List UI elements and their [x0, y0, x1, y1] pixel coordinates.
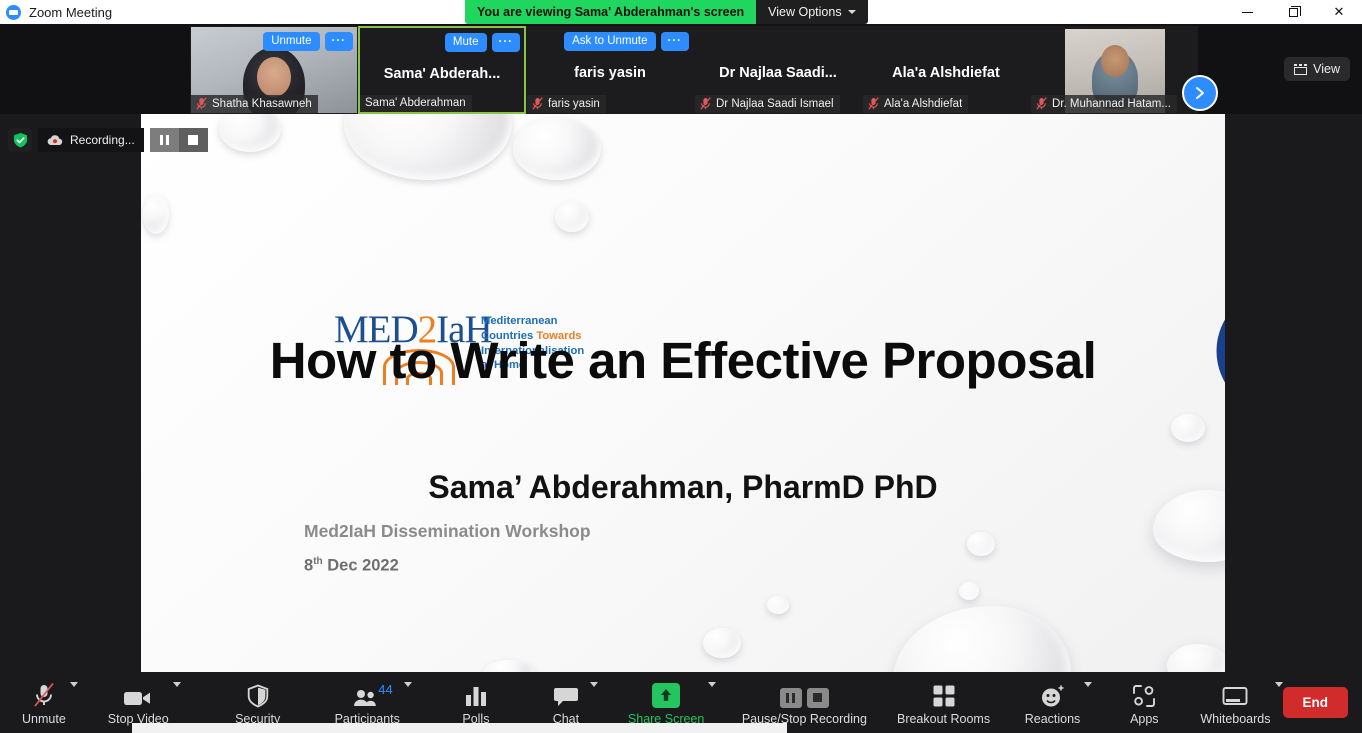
minimize-icon — [1242, 12, 1253, 13]
microphone-muted-icon — [532, 97, 543, 110]
participant-thumbnail-active[interactable]: Mute ··· Sama' Abderah... Sama' Abderahm… — [358, 26, 526, 114]
pause-stop-icon — [780, 680, 829, 708]
ask-to-unmute-button[interactable]: Ask to Unmute — [564, 32, 655, 51]
breakout-rooms-button[interactable]: Breakout Rooms — [896, 672, 990, 733]
recording-indicator-bar: Recording... — [8, 128, 208, 152]
cloud-record-icon — [47, 134, 63, 146]
apps-bracket-icon — [1132, 680, 1156, 708]
thumbnail-controls: Mute ··· — [445, 33, 520, 52]
participant-thumbnail[interactable]: Ask to Unmute ··· faris yasin faris yasi… — [526, 26, 694, 114]
microphone-muted-icon — [700, 97, 711, 110]
shared-screen-area[interactable]: MED2IaH Mediterranean Countries Towards … — [141, 114, 1225, 673]
water-drop-decoration — [1167, 644, 1225, 673]
view-options-label: View Options — [768, 5, 841, 19]
participant-display-name: Dr Najlaa Saadi... — [695, 65, 861, 81]
shield-icon — [247, 680, 269, 708]
toolbar-label: Reactions — [1025, 712, 1081, 726]
meeting-info-shield-button[interactable] — [8, 128, 32, 152]
recording-label: Recording... — [70, 133, 135, 147]
left-letterbox — [0, 114, 141, 673]
participant-display-name: Sama' Abderah... — [360, 66, 524, 82]
slide-author: Sama’ Abderahman, PharmD PhD — [141, 469, 1225, 506]
thumbnail-more-button[interactable]: ··· — [661, 32, 690, 51]
toolbar-label: Apps — [1130, 712, 1159, 726]
thumbnail-more-button[interactable]: ··· — [492, 33, 521, 52]
bubble-decoration — [143, 194, 169, 234]
stop-recording-button[interactable] — [179, 128, 208, 152]
video-options-caret-icon[interactable] — [173, 682, 181, 687]
recording-controls — [150, 128, 208, 152]
thumbnail-footer: Dr Najlaa Saadi Ismael — [695, 95, 840, 113]
bar-chart-icon — [464, 680, 488, 708]
slide-date-ordinal: th — [313, 556, 322, 567]
bubble-decoration — [1171, 414, 1205, 442]
grid-squares-icon — [932, 680, 956, 708]
thumbnail-more-button[interactable]: ··· — [325, 32, 354, 51]
participant-name: Ala'a Alshdiefat — [884, 98, 962, 110]
participant-filmstrip: Unmute ··· Shatha Khasawneh Mute ··· Sam… — [0, 24, 1362, 114]
whiteboards-button[interactable]: Whiteboards — [1196, 672, 1274, 733]
toolbar-label: Whiteboards — [1200, 712, 1270, 726]
thumbnail-list: Unmute ··· Shatha Khasawneh Mute ··· Sam… — [190, 26, 1198, 114]
stop-icon[interactable] — [807, 688, 829, 708]
thumbnail-footer: faris yasin — [527, 95, 606, 113]
mute-participant-button[interactable]: Mute — [445, 33, 487, 52]
chevron-right-icon — [1194, 86, 1206, 100]
participant-display-name: faris yasin — [527, 65, 693, 81]
slide-subtitle: Med2IaH Dissemination Workshop — [304, 521, 591, 542]
background-window-strip — [132, 723, 787, 733]
thumbnail-footer: Ala'a Alshdiefat — [863, 95, 968, 113]
maximize-button[interactable] — [1270, 0, 1316, 24]
view-button-label: View — [1313, 62, 1340, 76]
thumbnail-footer: Sama' Abderahman — [360, 95, 472, 112]
participant-thumbnail[interactable]: Unmute ··· Shatha Khasawneh — [190, 26, 358, 114]
tagline-line-1: Mediterranean — [481, 314, 606, 329]
grid-view-icon — [1294, 64, 1307, 75]
participant-display-name: Ala'a Alshdiefat — [863, 65, 1029, 81]
participant-name: faris yasin — [548, 98, 600, 110]
apps-button[interactable]: Apps — [1120, 672, 1168, 733]
participants-count-badge: 44 — [378, 682, 392, 697]
pause-icon — [160, 135, 169, 145]
share-green-square — [652, 683, 680, 708]
chat-options-caret-icon[interactable] — [590, 682, 598, 687]
microphone-muted-icon — [196, 97, 207, 110]
bubble-decoration — [219, 114, 281, 152]
participant-name: Dr Najlaa Saadi Ismael — [716, 98, 834, 110]
close-icon: ✕ — [1334, 4, 1345, 20]
chevron-down-icon — [848, 10, 856, 14]
green-shield-icon — [13, 132, 28, 148]
zoom-logo-icon — [6, 5, 21, 20]
view-layout-button[interactable]: View — [1284, 57, 1350, 81]
whiteboards-options-caret-icon[interactable] — [1275, 682, 1283, 687]
bubble-decoration — [555, 202, 589, 232]
bubble-decoration — [967, 532, 995, 556]
end-meeting-button[interactable]: End — [1283, 687, 1349, 718]
microphone-muted-icon — [868, 97, 879, 110]
reactions-options-caret-icon[interactable] — [1084, 682, 1092, 687]
participant-thumbnail[interactable]: Dr Najlaa Saadi... Dr Najlaa Saadi Ismae… — [694, 26, 862, 114]
bubble-decoration — [767, 596, 789, 614]
window-controls: ✕ — [1224, 0, 1362, 24]
video-camera-icon — [123, 680, 153, 708]
microphone-muted-icon — [1036, 97, 1047, 110]
participant-name: Sama' Abderahman — [365, 97, 466, 109]
thumbnail-controls: Unmute ··· — [263, 32, 353, 51]
presentation-slide: MED2IaH Mediterranean Countries Towards … — [141, 114, 1225, 673]
participant-thumbnail[interactable]: Dr. Muhannad Hatam... — [1030, 26, 1198, 114]
water-drop-decoration — [893, 606, 1071, 673]
right-letterbox — [1225, 114, 1362, 673]
whiteboards-control-group: Whiteboards — [1196, 672, 1282, 733]
participants-options-caret-icon[interactable] — [404, 682, 412, 687]
toolbar-label: Unmute — [22, 712, 66, 726]
restore-icon — [1289, 8, 1298, 17]
pause-recording-button[interactable] — [150, 128, 179, 152]
smiley-plus-icon — [1040, 680, 1066, 708]
thumbnail-footer: Dr. Muhannad Hatam... — [1031, 95, 1177, 113]
audio-options-caret-icon[interactable] — [70, 682, 78, 687]
unmute-participant-button[interactable]: Unmute — [263, 32, 319, 51]
whiteboard-icon — [1222, 680, 1248, 708]
window-title: Zoom Meeting — [29, 5, 112, 20]
speech-bubble-icon — [553, 680, 579, 708]
pause-icon[interactable] — [780, 688, 802, 708]
thumbnail-footer: Shatha Khasawneh — [191, 95, 318, 113]
bubble-decoration — [344, 114, 512, 180]
slide-date-day: 8 — [304, 557, 313, 575]
view-options-button[interactable]: View Options — [756, 0, 867, 24]
stop-icon — [188, 135, 198, 145]
toolbar-label: Breakout Rooms — [897, 712, 990, 726]
close-button[interactable]: ✕ — [1316, 0, 1362, 24]
thumbnail-controls: Ask to Unmute ··· — [564, 32, 689, 51]
viewing-screen-label: You are viewing Sama' Abderahman's scree… — [465, 0, 756, 24]
reactions-control-group: Reactions — [1021, 672, 1093, 733]
slide-date: 8th Dec 2022 — [304, 556, 399, 576]
participant-thumbnail[interactable]: Ala'a Alshdiefat Ala'a Alshdiefat — [862, 26, 1030, 114]
recording-status-chip: Recording... — [38, 128, 144, 152]
reactions-button[interactable]: Reactions — [1021, 672, 1085, 733]
slide-title: How to Write an Effective Proposal — [141, 332, 1225, 390]
microphone-muted-icon — [31, 680, 57, 708]
unmute-button[interactable]: Unmute — [18, 672, 70, 733]
slide-date-rest: Dec 2022 — [323, 557, 399, 575]
next-participants-button[interactable] — [1182, 75, 1218, 111]
minimize-button[interactable] — [1224, 0, 1270, 24]
bubble-decoration — [959, 582, 979, 600]
bubble-decoration — [703, 628, 741, 658]
share-arrow-up-icon — [652, 680, 680, 708]
participant-name: Shatha Khasawneh — [212, 98, 312, 110]
bubble-decoration — [513, 118, 601, 180]
recording-button-pair — [780, 688, 829, 708]
share-options-caret-icon[interactable] — [708, 682, 716, 687]
participant-name: Dr. Muhannad Hatam... — [1052, 98, 1171, 110]
people-icon: 44 — [352, 680, 382, 708]
audio-control-group: Unmute — [18, 672, 78, 733]
screen-share-banner: You are viewing Sama' Abderahman's scree… — [465, 0, 868, 24]
